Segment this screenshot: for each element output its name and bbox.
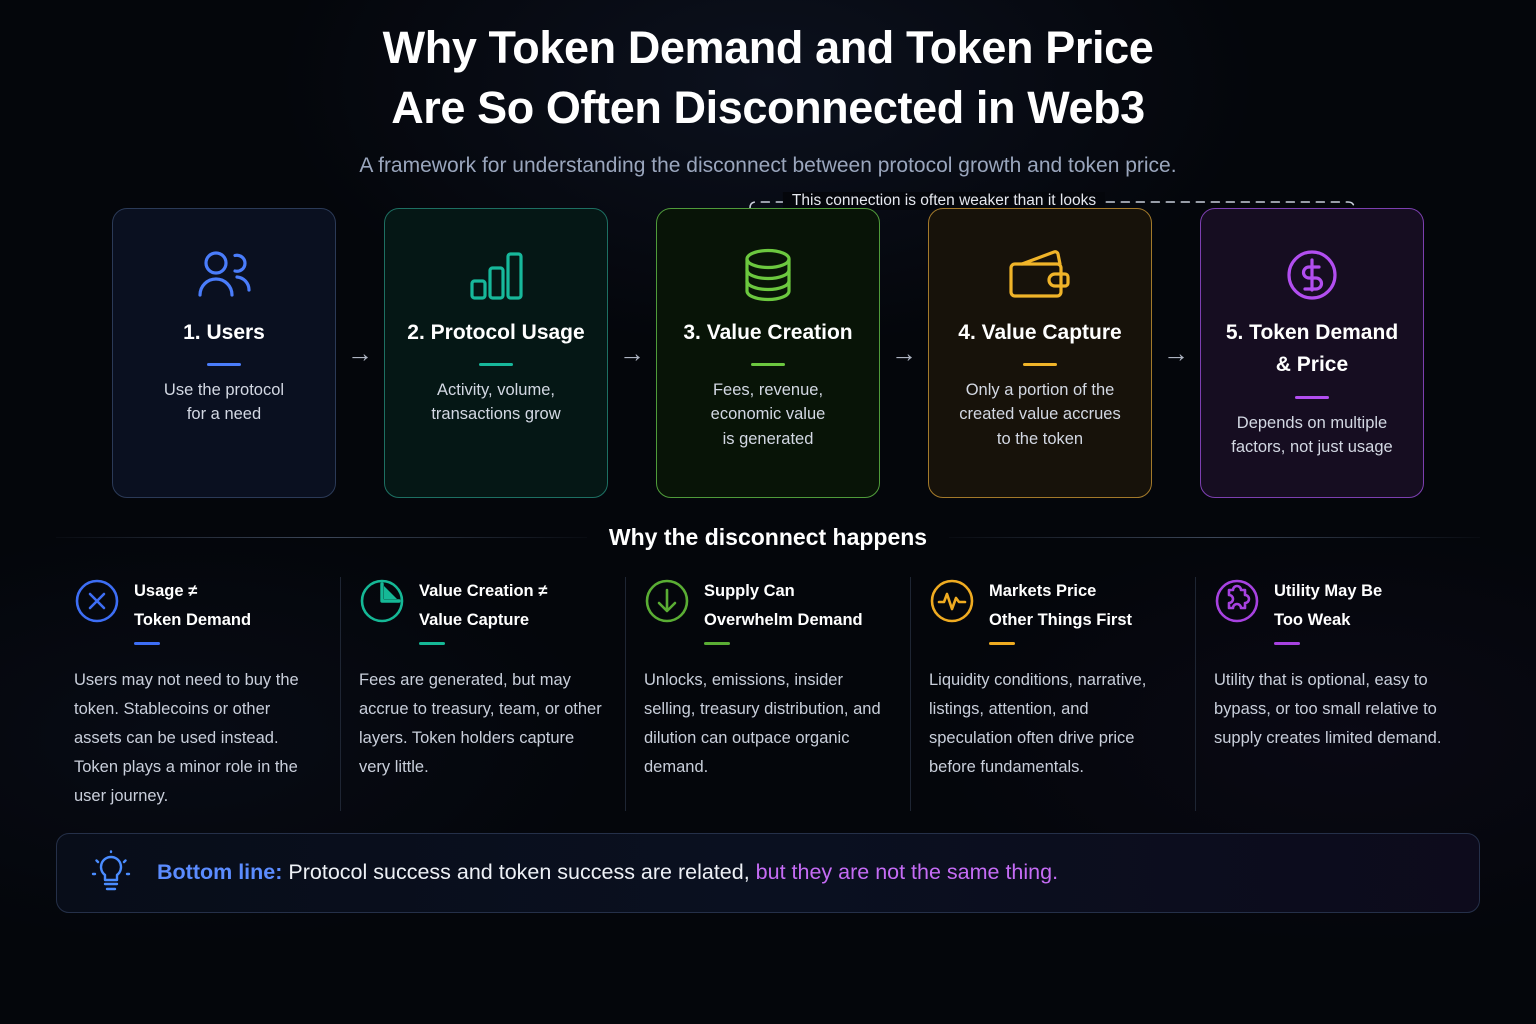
reason-head: Supply Can Overwhelm Demand — [644, 577, 888, 636]
divider-left — [56, 537, 587, 538]
reason-title: Usage ≠ Token Demand — [134, 577, 251, 636]
reason-head: Utility May Be Too Weak — [1214, 577, 1458, 636]
flow-card-title: 5. Token Demand & Price — [1218, 317, 1406, 382]
flow-card-rule — [207, 363, 241, 366]
flow-card-value-creation[interactable]: 3. Value Creation Fees, revenue, economi… — [656, 208, 880, 498]
pie-chart-icon — [359, 578, 405, 629]
flow-card-title: 2. Protocol Usage — [399, 317, 592, 350]
flow-arrow-2: → — [608, 340, 656, 366]
reason-head: Usage ≠ Token Demand — [74, 577, 318, 636]
x-circle-icon — [74, 578, 120, 629]
flow-arrow-4: → — [1152, 340, 1200, 366]
reason-head: Markets Price Other Things First — [929, 577, 1173, 636]
reason-rule — [419, 642, 445, 645]
bar-chart-icon — [467, 239, 525, 311]
flow-card-users[interactable]: 1. Users Use the protocol for a need — [112, 208, 336, 498]
reason-usage-not-token-demand[interactable]: Usage ≠ Token Demand Users may not need … — [56, 577, 340, 811]
bottom-line-middle: Protocol success and token success are r… — [288, 860, 749, 884]
reason-title: Supply Can Overwhelm Demand — [704, 577, 863, 636]
flow-card-title: 4. Value Capture — [950, 317, 1129, 350]
reason-rule — [134, 642, 160, 645]
reason-title: Utility May Be Too Weak — [1274, 577, 1382, 636]
flow-section: This connection is often weaker than it … — [0, 208, 1536, 498]
disconnect-section-header: Why the disconnect happens — [0, 524, 1536, 551]
flow-cards-row: 1. Users Use the protocol for a need → 2… — [0, 208, 1536, 498]
flow-card-rule — [751, 363, 785, 366]
dollar-coin-icon — [1283, 239, 1341, 311]
page-title-line-1: Why Token Demand and Token Price — [0, 18, 1536, 78]
bottom-line-banner: Bottom line: Protocol success and token … — [56, 833, 1480, 913]
page-title: Why Token Demand and Token Price Are So … — [0, 18, 1536, 138]
puzzle-circle-icon — [1214, 578, 1260, 629]
arrow-down-circle-icon — [644, 578, 690, 629]
reason-value-creation-not-capture[interactable]: Value Creation ≠ Value Capture Fees are … — [340, 577, 625, 811]
flow-arrow-1: → — [336, 340, 384, 366]
flow-card-desc: Depends on multiple factors, not just us… — [1217, 411, 1406, 460]
reason-body: Liquidity conditions, narrative, listing… — [929, 666, 1173, 782]
lightbulb-icon — [91, 850, 131, 896]
flow-card-token-demand-price[interactable]: 5. Token Demand & Price Depends on multi… — [1200, 208, 1424, 498]
section-heading: Why the disconnect happens — [609, 524, 927, 551]
bottom-line-label: Bottom line: — [157, 860, 282, 884]
flow-card-value-capture[interactable]: 4. Value Capture Only a portion of the c… — [928, 208, 1152, 498]
wallet-icon — [1009, 239, 1071, 311]
flow-arrow-3: → — [880, 340, 928, 366]
page-header: Why Token Demand and Token Price Are So … — [0, 0, 1536, 178]
reason-body: Fees are generated, but may accrue to tr… — [359, 666, 603, 782]
flow-card-rule — [1295, 396, 1329, 399]
reason-rule — [989, 642, 1015, 645]
users-icon — [194, 239, 254, 311]
reason-title: Markets Price Other Things First — [989, 577, 1132, 636]
flow-card-desc: Activity, volume, transactions grow — [417, 378, 574, 427]
flow-card-desc: Use the protocol for a need — [150, 378, 298, 427]
pulse-circle-icon — [929, 578, 975, 629]
reason-head: Value Creation ≠ Value Capture — [359, 577, 603, 636]
bottom-line-accent: but they are not the same thing. — [756, 860, 1058, 884]
reason-rule — [1274, 642, 1300, 645]
reason-markets-price-other-things[interactable]: Markets Price Other Things First Liquidi… — [910, 577, 1195, 811]
reason-body: Users may not need to buy the token. Sta… — [74, 666, 318, 811]
flow-card-title: 1. Users — [175, 317, 273, 350]
flow-card-title: 3. Value Creation — [675, 317, 860, 350]
database-icon — [740, 239, 796, 311]
reason-rule — [704, 642, 730, 645]
reason-title: Value Creation ≠ Value Capture — [419, 577, 547, 636]
reason-utility-too-weak[interactable]: Utility May Be Too Weak Utility that is … — [1195, 577, 1480, 811]
flow-card-desc: Fees, revenue, economic value is generat… — [697, 378, 840, 451]
reason-supply-overwhelms-demand[interactable]: Supply Can Overwhelm Demand Unlocks, emi… — [625, 577, 910, 811]
flow-card-rule — [479, 363, 513, 366]
bottom-line-text: Bottom line: Protocol success and token … — [157, 860, 1058, 886]
flow-card-desc: Only a portion of the created value accr… — [945, 378, 1134, 451]
flow-card-rule — [1023, 363, 1057, 366]
reason-body: Unlocks, emissions, insider selling, tre… — [644, 666, 888, 782]
reason-body: Utility that is optional, easy to bypass… — [1214, 666, 1458, 753]
flow-card-protocol-usage[interactable]: 2. Protocol Usage Activity, volume, tran… — [384, 208, 608, 498]
page-subtitle: A framework for understanding the discon… — [0, 154, 1536, 178]
reasons-row: Usage ≠ Token Demand Users may not need … — [0, 577, 1536, 811]
page-title-line-2: Are So Often Disconnected in Web3 — [0, 78, 1536, 138]
divider-right — [949, 537, 1480, 538]
